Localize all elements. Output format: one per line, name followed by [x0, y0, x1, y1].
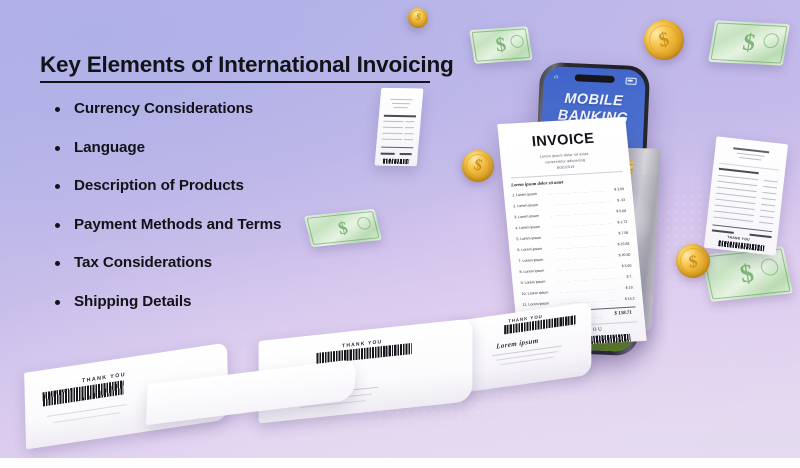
invoice-item-label: 1. Lorem ipsum [512, 192, 537, 197]
dollar-symbol: $ [336, 219, 349, 237]
list-item: Payment Methods and Terms [48, 216, 281, 233]
invoice-item-amount: $ 7. [626, 275, 632, 279]
leader-dots [554, 254, 606, 260]
invoice-total-amount: $ 158.71 [614, 311, 632, 317]
list-item: Currency Considerations [48, 100, 281, 117]
coin-dollar-symbol: $ [657, 29, 671, 51]
invoice-items-header: Lorem ipsum dolor sit amet [511, 179, 564, 187]
dollar-bill: $ [469, 26, 532, 64]
invoice-title: INVOICE [498, 129, 627, 152]
title-underline [40, 81, 430, 83]
dollar-bill: $ [701, 246, 793, 302]
leader-dots [553, 243, 607, 249]
bill-seal [510, 35, 525, 49]
coin-dollar-symbol: $ [414, 12, 422, 23]
invoice-item-label: 9. Lorem ipsum [520, 280, 545, 285]
signal-icon: ıll [554, 74, 559, 79]
invoice-item-label: 8. Lorem ipsum [519, 269, 544, 274]
slide-canvas: Key Elements of International Invoicing … [0, 0, 800, 468]
page-title: Key Elements of International Invoicing [40, 52, 454, 78]
invoice-item-amount: $ .33 [617, 198, 625, 202]
invoice-item-label: 3. Lorem ipsum [514, 214, 539, 219]
invoice-item-label: 6. Lorem ipsum [517, 247, 542, 252]
barcode [383, 159, 409, 164]
battery-icon [625, 77, 636, 84]
invoice-item-amount: $ 5.60 [622, 264, 632, 269]
invoice-item-label: 10. Lorem ipsum [521, 290, 548, 296]
invoice-item-amount: $ 1.72 [617, 220, 627, 225]
key-elements-list: Currency Considerations Language Descrip… [48, 100, 281, 331]
list-item: Language [48, 139, 281, 156]
leader-dots [555, 265, 613, 271]
barcode [718, 240, 764, 251]
leader-dots [560, 298, 616, 304]
bill-seal [356, 216, 372, 230]
invoice-item-label: 4. Lorem ipsum [515, 225, 540, 230]
leader-dots [552, 232, 610, 238]
list-item: Shipping Details [48, 293, 281, 310]
dollar-bill: $ [708, 20, 790, 65]
invoice-item-label: 7. Lorem ipsum [518, 258, 543, 263]
invoice-document-right: THANK YOU [704, 136, 788, 255]
receipt-document-small [375, 88, 424, 166]
leader-dots [550, 210, 608, 216]
leader-dots [556, 275, 620, 282]
list-item: Description of Products [48, 177, 281, 194]
invoice-item-amount: $ 7.58 [618, 231, 628, 236]
coin-dollar-symbol: $ [688, 252, 699, 270]
invoice-item-amount: $ 19. [626, 286, 634, 290]
list-item: Tax Considerations [48, 254, 281, 271]
invoice-item-label: 11. Lorem ipsum [523, 301, 550, 307]
bill-seal [759, 258, 780, 276]
invoice-item-label: 5. Lorem ipsum [516, 236, 541, 241]
leader-dots [549, 199, 611, 206]
dollar-symbol: $ [494, 35, 507, 55]
invoice-item-amount: $ 5.68 [616, 209, 626, 214]
invoice-item-amount: $ 20.50 [619, 253, 631, 258]
leader-dots [551, 221, 611, 227]
coin-dollar-symbol: $ [472, 157, 484, 174]
leader-dots [559, 286, 619, 292]
leader-dots [548, 188, 606, 194]
bottom-white-strip [0, 458, 800, 468]
dollar-symbol: $ [738, 261, 756, 288]
phone-notch [575, 74, 615, 83]
invoice-item-label: 2. Lorem ipsum [513, 203, 538, 208]
invoice-item-amount: $ 15.2 [625, 296, 635, 301]
invoice-item-amount: $ 15.68 [617, 242, 629, 247]
invoice-item-amount: $ 3.69 [614, 187, 624, 192]
dollar-symbol: $ [741, 31, 757, 55]
bill-seal [762, 33, 780, 49]
